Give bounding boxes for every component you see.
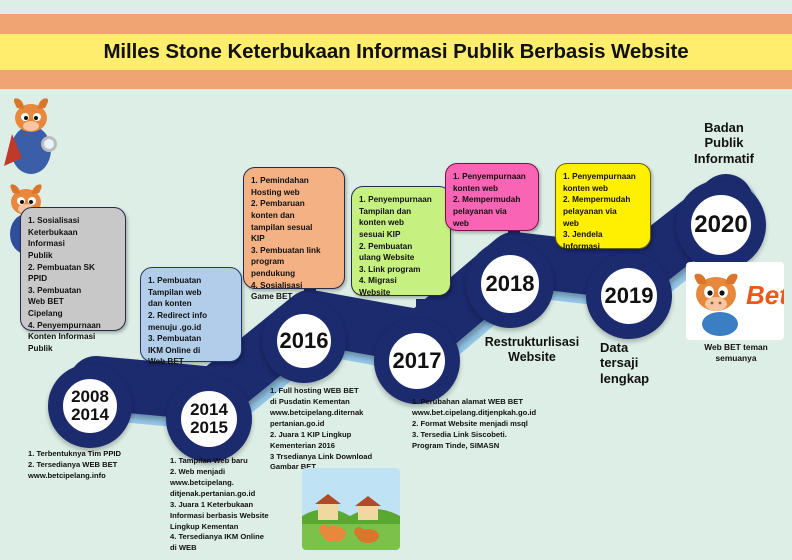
callout-2008-2014: 1. Sosialisasi Keterbukaan Informasi Pub… [20,207,126,331]
caption-2020: Badan Publik Informatif [664,120,784,166]
callout-2018: 1. Penyempurnaan konten web 2. Mempermud… [445,163,539,231]
node-year-line1: 2014 [190,401,228,419]
node-year-line1: 2020 [694,213,747,238]
infographic-page: Milles Stone Keterbukaan Informasi Publi… [0,0,792,560]
mascot-caption: Web BET teman semuanya [686,342,786,364]
header-strip-top [0,0,792,14]
timeline-node-2008-2014[interactable]: 2008 2014 [48,364,132,448]
timeline-node-2014-2015[interactable]: 2014 2015 [166,376,252,462]
node-year-line1: 2019 [605,285,654,308]
header-band-orange-bottom [0,70,792,89]
timeline-node-2019[interactable]: 2019 [586,253,672,339]
village-illustration [302,468,400,550]
bet-logo: Bet [686,262,784,340]
description-2008-2014: 1. Terbentuknya Tim PPID 2. Tersedianya … [28,449,178,482]
timeline-node-2020[interactable]: 2020 [676,180,766,270]
callout-2019: 1. Penyempurnaan konten web 2. Mempermud… [555,163,651,249]
node-year-line1: 2016 [280,330,329,353]
node-year-line1: 2018 [486,273,535,296]
timeline-node-2018[interactable]: 2018 [466,240,554,328]
bet-logo-wordmark: Bet [746,280,784,310]
description-2017: 1. Perubahan alamat WEB BET www.bet.cipe… [412,397,587,452]
description-2016: 1. Full hosting WEB BET di Pusdatin Keme… [270,386,415,473]
caption-2018: Restrukturlisasi Website [462,335,602,365]
callout-2014-2015: 1. Pembuatan Tampilan web dan konten 2. … [140,267,242,362]
timeline-node-2016[interactable]: 2016 [262,299,346,383]
node-year-line2: 2015 [190,419,228,437]
node-year-line2: 2014 [71,406,109,424]
caption-2019: Data tersaji lengkap [600,340,670,386]
page-title: Milles Stone Keterbukaan Informasi Publi… [0,34,792,70]
callout-2016: 1. Pemindahan Hosting web 2. Pembaruan k… [243,167,345,289]
header-band-orange-top [0,14,792,34]
callout-2017: 1. Penyempurnaan Tampilan dan konten web… [351,186,451,296]
node-year-line1: 2017 [393,350,442,373]
node-year-line1: 2008 [71,388,109,406]
